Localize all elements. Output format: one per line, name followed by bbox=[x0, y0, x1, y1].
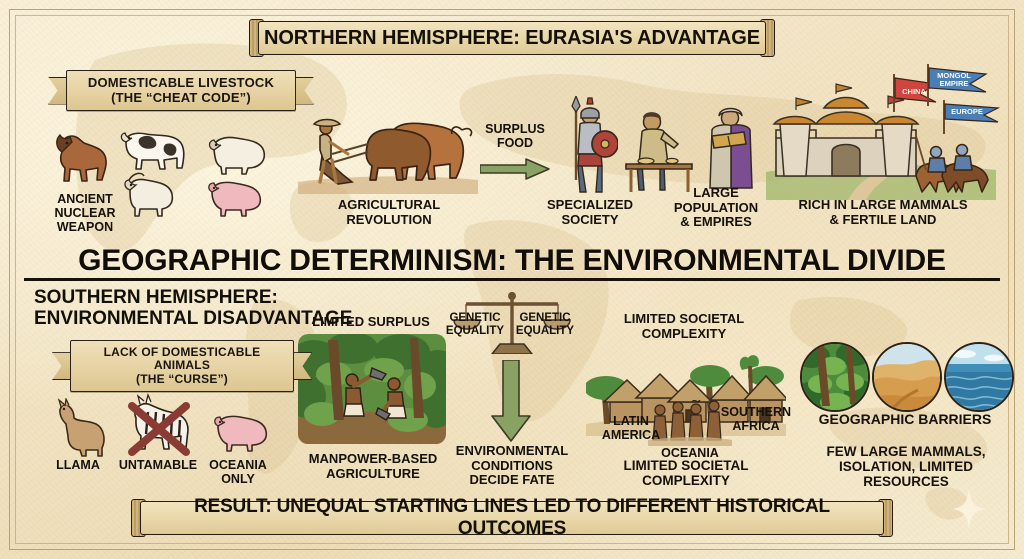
environmental-conditions-caption: ENVIRONMENTAL CONDITIONS DECIDE FATE bbox=[436, 444, 588, 488]
sparkle-icon bbox=[952, 489, 986, 529]
environmental-conditions-arrow-icon bbox=[490, 360, 532, 442]
bottom-banner: RESULT: UNEQUAL STARTING LINES LED TO DI… bbox=[140, 502, 884, 534]
ocean-circle-icon bbox=[944, 342, 1014, 412]
jungle-circle-icon bbox=[800, 342, 870, 412]
rich-in-mammals-caption: RICH IN LARGE MAMMALS & FERTILE LAND bbox=[780, 198, 986, 227]
flag-europe-label: EUROPE bbox=[944, 108, 990, 116]
south-lack-animals-ribbon: LACK OF DOMESTICABLE ANIMALS (THE “CURSE… bbox=[70, 340, 294, 392]
southern-africa-label: SOUTHERN AFRICA bbox=[708, 405, 804, 433]
manpower-agriculture-caption: MANPOWER-BASED AGRICULTURE bbox=[296, 452, 450, 481]
zebra-crossed-out-illustration bbox=[114, 392, 198, 458]
limited-societal-complexity-bottom-caption: LIMITED SOCIETAL COMPLEXITY bbox=[594, 458, 778, 488]
page-title: GEOGRAPHIC DETERMINISM: THE ENVIRONMENTA… bbox=[0, 244, 1024, 278]
latin-america-label: LATIN AMERICA bbox=[592, 414, 670, 442]
limited-surplus-label: LIMITED SURPLUS bbox=[306, 315, 436, 330]
agricultural-revolution-caption: AGRICULTURAL REVOLUTION bbox=[306, 198, 472, 227]
limited-societal-complexity-top-caption: LIMITED SOCIETAL COMPLEXITY bbox=[598, 312, 770, 341]
scholar-illustration bbox=[700, 100, 762, 194]
pig-illustration bbox=[196, 170, 272, 220]
geographic-barriers-caption: FEW LARGE MAMMALS, ISOLATION, LIMITED RE… bbox=[802, 444, 1010, 489]
manpower-agriculture-illustration bbox=[298, 334, 446, 444]
top-banner-label: NORTHERN HEMISPHERE: EURASIA'S ADVANTAGE bbox=[258, 21, 766, 55]
genetic-equality-right-label: GENETIC EQUALITY bbox=[514, 312, 576, 338]
large-population-caption: LARGE POPULATION & EMPIRES bbox=[664, 186, 768, 230]
north-livestock-ribbon-label: DOMESTICABLE LIVESTOCK (THE “CHEAT CODE”… bbox=[66, 70, 296, 111]
flag-europe bbox=[940, 100, 1000, 134]
south-lack-animals-ribbon-label: LACK OF DOMESTICABLE ANIMALS (THE “CURSE… bbox=[70, 340, 294, 392]
horse-illustration bbox=[42, 128, 118, 186]
merchant-illustration bbox=[622, 106, 696, 194]
llama-label: LLAMA bbox=[36, 458, 120, 472]
north-livestock-ribbon: DOMESTICABLE LIVESTOCK (THE “CHEAT CODE”… bbox=[66, 70, 296, 111]
flag-mongol-empire-label: MONGOL EMPIRE bbox=[930, 72, 978, 88]
specialized-society-caption: SPECIALIZED SOCIETY bbox=[538, 198, 642, 227]
specialized-society-illustration bbox=[556, 96, 618, 196]
bottom-banner-label: RESULT: UNEQUAL STARTING LINES LED TO DI… bbox=[140, 501, 884, 535]
ancient-nuclear-weapon-caption: ANCIENT NUCLEAR WEAPON bbox=[30, 192, 140, 234]
desert-circle-icon bbox=[872, 342, 942, 412]
pig-oceania-illustration bbox=[200, 404, 278, 456]
genetic-equality-left-label: GENETIC EQUALITY bbox=[444, 312, 506, 338]
geographic-barriers-title: GEOGRAPHIC BARRIERS bbox=[794, 412, 1016, 428]
infographic-poster: NORTHERN HEMISPHERE: EURASIA'S ADVANTAGE… bbox=[0, 0, 1024, 559]
title-divider bbox=[24, 278, 1000, 281]
untamable-label: UNTAMABLE bbox=[112, 458, 204, 472]
oceania-only-label: OCEANIA ONLY bbox=[196, 458, 280, 486]
surplus-food-label: SURPLUS FOOD bbox=[474, 122, 556, 150]
surplus-food-arrow-icon bbox=[480, 158, 550, 180]
top-banner: NORTHERN HEMISPHERE: EURASIA'S ADVANTAGE bbox=[258, 22, 766, 54]
agricultural-revolution-illustration bbox=[298, 96, 478, 194]
llama-illustration bbox=[44, 398, 114, 458]
